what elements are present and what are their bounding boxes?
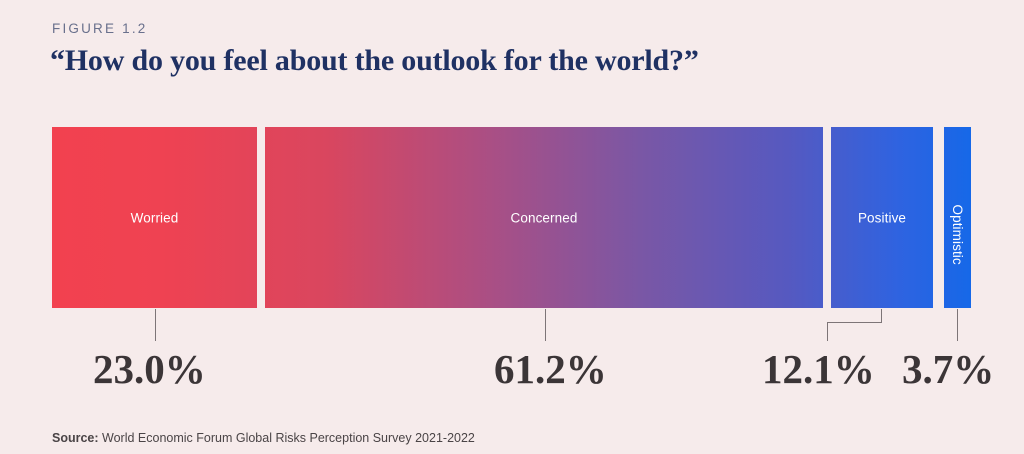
value-label-positive: 12.1% (762, 345, 875, 393)
figure-number-label: FIGURE 1.2 (52, 21, 148, 36)
segment-gradient-fill (265, 127, 823, 308)
value-label-optimistic: 3.7% (902, 345, 994, 393)
source-text: World Economic Forum Global Risks Percep… (99, 431, 475, 445)
source-label: Source: (52, 431, 99, 445)
bar-segment-concerned[interactable]: Concerned (265, 127, 823, 308)
segment-gradient-fill (831, 127, 933, 308)
bar-segment-optimistic[interactable]: Optimistic (944, 127, 971, 308)
stacked-bar-chart: Worried Concerned Positive Optimistic (52, 127, 971, 308)
leader-line-positive-drop (827, 322, 828, 341)
leader-line-positive-stem (881, 309, 882, 323)
segment-gradient-fill (944, 127, 971, 308)
leader-line-worried (155, 309, 156, 341)
page-title: “How do you feel about the outlook for t… (50, 44, 699, 78)
leader-line-positive-elbow (827, 322, 882, 323)
segment-gradient-fill (52, 127, 257, 308)
leader-line-optimistic (957, 309, 958, 341)
value-label-worried: 23.0% (93, 345, 206, 393)
leader-line-concerned (545, 309, 546, 341)
value-label-concerned: 61.2% (494, 345, 607, 393)
bar-segment-worried[interactable]: Worried (52, 127, 257, 308)
bar-segment-positive[interactable]: Positive (831, 127, 933, 308)
source-note: Source: World Economic Forum Global Risk… (52, 431, 475, 445)
figure-container: FIGURE 1.2 “How do you feel about the ou… (0, 0, 1024, 454)
